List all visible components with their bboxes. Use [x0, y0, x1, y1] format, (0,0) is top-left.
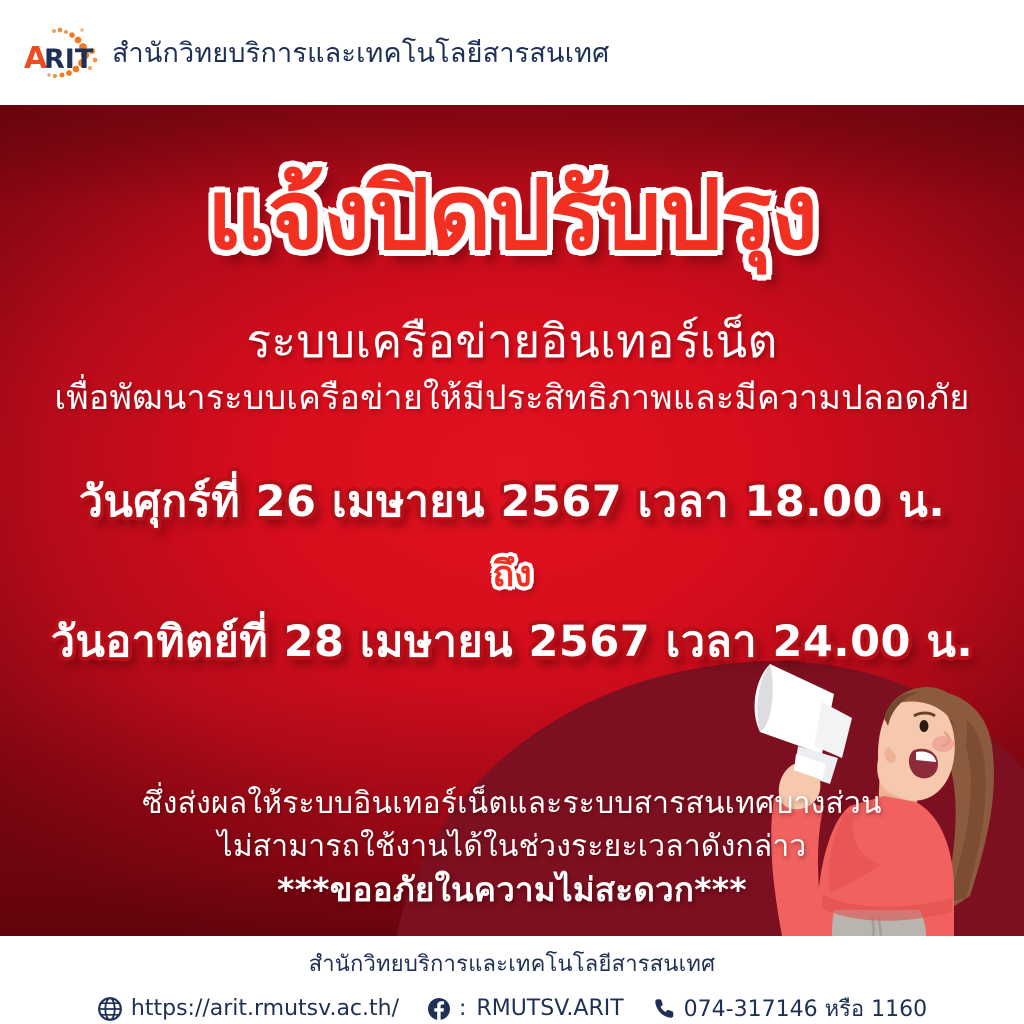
- contact-website-value: https://arit.rmutsv.ac.th/: [131, 996, 399, 1021]
- contact-phone[interactable]: 074-317146 หรือ 1160: [652, 991, 927, 1024]
- phone-icon: [652, 997, 676, 1021]
- footer-contacts: https://arit.rmutsv.ac.th/ : RMUTSV.ARIT…: [0, 991, 1024, 1024]
- between-label: ถึง: [0, 545, 1024, 602]
- purpose-text: เพื่อพัฒนาระบบเครือข่ายให้มีประสิทธิภาพแ…: [0, 370, 1024, 424]
- globe-icon: [97, 996, 123, 1022]
- subtitle: ระบบเครือข่ายอินเทอร์เน็ต: [0, 305, 1024, 378]
- footer-organization: สำนักวิทยบริการและเทคโนโลยีสารสนเทศ: [0, 946, 1024, 981]
- impact-note-line-1: ซึ่งส่งผลให้ระบบอินเทอร์เน็ตและระบบสารสน…: [0, 780, 1024, 827]
- red-banner: แจ้งปิดปรับปรุง ระบบเครือข่ายอินเทอร์เน็…: [0, 105, 1024, 936]
- logo-letters-rit: RIT: [44, 44, 94, 75]
- contact-facebook-separator: :: [459, 996, 466, 1021]
- contact-facebook[interactable]: : RMUTSV.ARIT: [427, 996, 624, 1021]
- header-title: สำนักวิทยบริการและเทคโนโลยีสารสนเทศ: [112, 31, 609, 74]
- contact-phone-value: 074-317146 หรือ 1160: [684, 991, 927, 1024]
- apology-text: ***ขออภัยในความไม่สะดวก***: [0, 863, 1024, 916]
- contact-website[interactable]: https://arit.rmutsv.ac.th/: [97, 996, 399, 1022]
- banner-content: แจ้งปิดปรับปรุง ระบบเครือข่ายอินเทอร์เน็…: [0, 105, 1024, 936]
- end-datetime: วันอาทิตย์ที่ 28 เมษายน 2567 เวลา 24.00 …: [0, 607, 1024, 675]
- announcement-poster: A RIT สำนักวิทยบริการและเทคโนโลยีสารสนเท…: [0, 0, 1024, 1024]
- arit-logo-graphic: A RIT: [22, 22, 106, 84]
- page-header: A RIT สำนักวิทยบริการและเทคโนโลยีสารสนเท…: [0, 0, 1024, 105]
- start-datetime: วันศุกร์ที่ 26 เมษายน 2567 เวลา 18.00 น.: [0, 467, 1024, 535]
- headline: แจ้งปิดปรับปรุง: [0, 165, 1024, 266]
- arit-logo: A RIT: [22, 22, 106, 84]
- facebook-icon: [427, 997, 451, 1021]
- page-footer: สำนักวิทยบริการและเทคโนโลยีสารสนเทศ http…: [0, 936, 1024, 1024]
- contact-facebook-value: RMUTSV.ARIT: [476, 996, 623, 1021]
